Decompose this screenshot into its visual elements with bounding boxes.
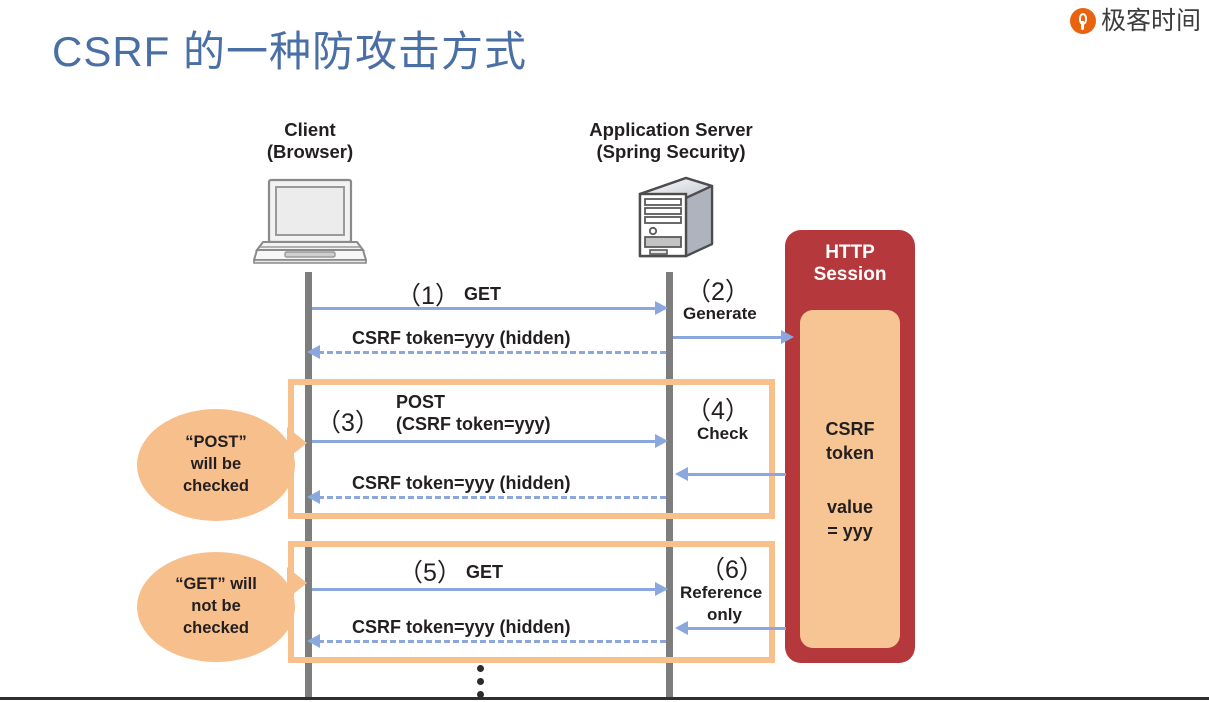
step-6-note-line2: only <box>707 605 742 625</box>
callout-get-tail-icon <box>287 567 307 599</box>
step-5-label: GET <box>466 562 503 584</box>
step-3-label-line1: POST <box>396 392 445 414</box>
arrow-step-1-line <box>312 307 657 310</box>
arrow-step-6-head-icon <box>675 621 688 635</box>
session-token-label-line1: CSRF <box>800 417 900 441</box>
callout-get-line2: not be <box>175 596 257 618</box>
page-title: CSRF 的一种防攻击方式 <box>52 18 527 79</box>
arrow-reply-1-line <box>318 351 666 354</box>
arrow-step-3-line <box>312 440 657 443</box>
callout-get-line3: checked <box>175 618 257 640</box>
session-token-value-line1: value <box>800 495 900 519</box>
continuation-ellipsis-icon <box>477 665 484 698</box>
arrow-reply-1-head-icon <box>307 345 320 359</box>
callout-post-tail-icon <box>287 427 307 459</box>
callout-post-line1: “POST” <box>183 432 249 454</box>
slide-canvas: CSRF 的一种防攻击方式 极客时间 Client (Browser) Appl… <box>0 0 1209 702</box>
brand-logo: 极客时间 <box>1070 8 1201 34</box>
laptop-icon <box>253 178 367 266</box>
client-title-line1: Client <box>210 119 410 141</box>
http-session-title-line2: Session <box>785 264 915 286</box>
step-5-number: （5） <box>398 553 462 589</box>
step-2-number: （2） <box>686 272 750 308</box>
arrow-reply-5-head-icon <box>307 634 320 648</box>
arrow-step-6-line <box>686 627 786 630</box>
session-token-label-line2: token <box>800 441 900 465</box>
step-1-reply-label: CSRF token=yyy (hidden) <box>352 328 571 350</box>
callout-post-line2: will be <box>183 454 249 476</box>
actor-label-server: Application Server (Spring Security) <box>540 119 802 163</box>
ellipsis-dot <box>477 665 484 672</box>
step-3-number: （3） <box>316 403 380 439</box>
arrow-step-3-head-icon <box>655 434 668 448</box>
callout-get-line1: “GET” will <box>175 574 257 596</box>
callout-get-not-checked: “GET” will not be checked <box>137 552 295 662</box>
step-6-note-line1: Reference <box>680 583 762 603</box>
arrow-step-1-head-icon <box>655 301 668 315</box>
step-3-label-line2: (CSRF token=yyy) <box>396 414 551 436</box>
callout-post-checked: “POST” will be checked <box>137 409 295 521</box>
client-title-line2: (Browser) <box>210 141 410 163</box>
brand-name: 极客时间 <box>1101 9 1201 34</box>
step-6-number: （6） <box>700 550 764 586</box>
step-3-reply-label: CSRF token=yyy (hidden) <box>352 473 571 495</box>
server-tower-icon <box>628 174 720 266</box>
session-token-value: value = yyy <box>800 495 900 544</box>
arrow-reply-5-line <box>318 640 666 643</box>
step-1-label: GET <box>464 284 501 306</box>
step-4-number: （4） <box>686 391 750 427</box>
ellipsis-dot <box>477 678 484 685</box>
session-token-label: CSRF token <box>800 417 900 466</box>
arrow-step-5-line <box>312 588 657 591</box>
arrow-reply-3-head-icon <box>307 490 320 504</box>
step-4-note: Check <box>697 424 748 444</box>
session-token-container: CSRF token value = yyy <box>800 310 900 648</box>
server-title-line1: Application Server <box>540 119 802 141</box>
arrow-step-2-head-icon <box>781 330 794 344</box>
http-session-box: HTTP Session CSRF token value = yyy <box>785 230 915 663</box>
bottom-divider <box>0 697 1209 700</box>
arrow-reply-3-line <box>318 496 666 499</box>
session-token-value-line2: = yyy <box>800 519 900 543</box>
server-title-line2: (Spring Security) <box>540 141 802 163</box>
http-session-title-line1: HTTP <box>785 242 915 264</box>
arrow-step-5-head-icon <box>655 582 668 596</box>
arrow-step-4-head-icon <box>675 467 688 481</box>
http-session-title: HTTP Session <box>785 242 915 286</box>
step-2-note: Generate <box>683 304 757 324</box>
arrow-step-4-line <box>686 473 786 476</box>
arrow-step-2-line <box>673 336 783 339</box>
step-5-reply-label: CSRF token=yyy (hidden) <box>352 617 571 639</box>
actor-label-client: Client (Browser) <box>210 119 410 163</box>
callout-post-line3: checked <box>183 476 249 498</box>
geektime-logo-icon <box>1070 8 1096 34</box>
